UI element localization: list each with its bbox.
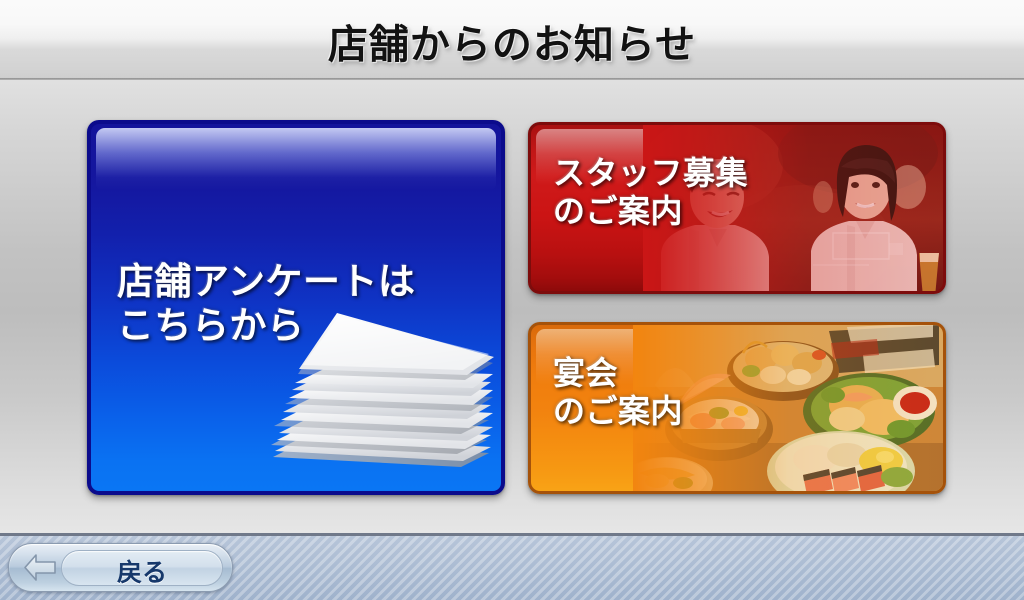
app-screen: 店舗からのお知らせ: [0, 0, 1024, 600]
tile-label-store-survey: 店舗アンケートは こちらから: [117, 260, 416, 347]
back-button-inner: 戻る: [61, 550, 223, 586]
header-bar: 店舗からのお知らせ: [0, 0, 1024, 80]
left-arrow-icon: [23, 553, 57, 582]
tile-staff-recruitment[interactable]: スタッフ募集 のご案内: [528, 122, 946, 294]
tile-gloss-highlight: [96, 128, 496, 190]
tile-label-staff-recruitment: スタッフ募集 のご案内: [553, 155, 748, 231]
tile-banquet-guide[interactable]: 宴会 のご案内: [528, 322, 946, 494]
tile-store-survey[interactable]: 店舗アンケートは こちらから: [87, 120, 505, 495]
back-button-label: 戻る: [62, 553, 222, 589]
tile-label-banquet-guide: 宴会 のご案内: [553, 355, 683, 431]
back-button[interactable]: 戻る: [8, 543, 233, 592]
page-title: 店舗からのお知らせ: [0, 12, 1024, 70]
